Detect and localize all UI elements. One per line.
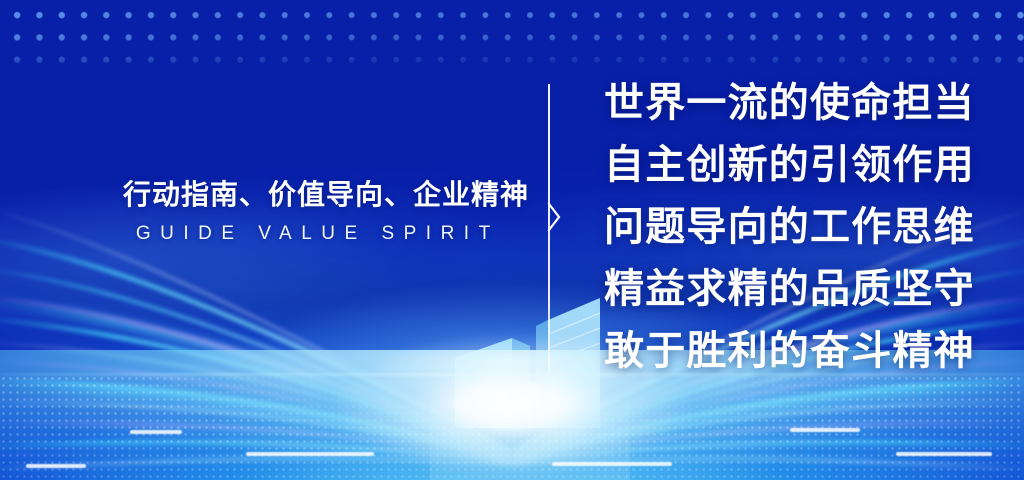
ground-halftone-pattern	[0, 375, 1024, 480]
slogan-line-5: 敢于胜利的奋斗精神	[604, 320, 974, 382]
ground-dash	[896, 452, 992, 456]
left-text-block: 行动指南、价值导向、企业精神 GUIDE VALUE SPIRIT	[123, 178, 503, 246]
slogan-line-3: 问题导向的工作思维	[604, 196, 974, 258]
chevron-right-icon	[542, 202, 564, 232]
corporate-culture-banner: 行动指南、价值导向、企业精神 GUIDE VALUE SPIRIT 世界一流的使…	[0, 0, 1024, 480]
tower-mid	[528, 378, 552, 428]
ground-dash	[26, 464, 86, 468]
divider	[538, 84, 560, 370]
halftone-dots-top	[0, 0, 1024, 78]
slogan-line-2: 自主创新的引领作用	[604, 134, 974, 196]
ground-dash	[552, 462, 672, 466]
slogan-line-4: 精益求精的品质坚守	[604, 258, 974, 320]
page-title: 行动指南、价值导向、企业精神	[123, 178, 503, 212]
slogan-line-1: 世界一流的使命担当	[604, 72, 974, 134]
ground-dash	[790, 428, 860, 432]
ground-dash	[246, 452, 374, 456]
halftone-dots-edges	[0, 0, 1024, 78]
slogan-list: 世界一流的使命担当 自主创新的引领作用 问题导向的工作思维 精益求精的品质坚守 …	[604, 72, 974, 382]
ground-dash	[130, 430, 182, 434]
page-subtitle: GUIDE VALUE SPIRIT	[123, 222, 503, 246]
tower-left	[455, 338, 530, 428]
